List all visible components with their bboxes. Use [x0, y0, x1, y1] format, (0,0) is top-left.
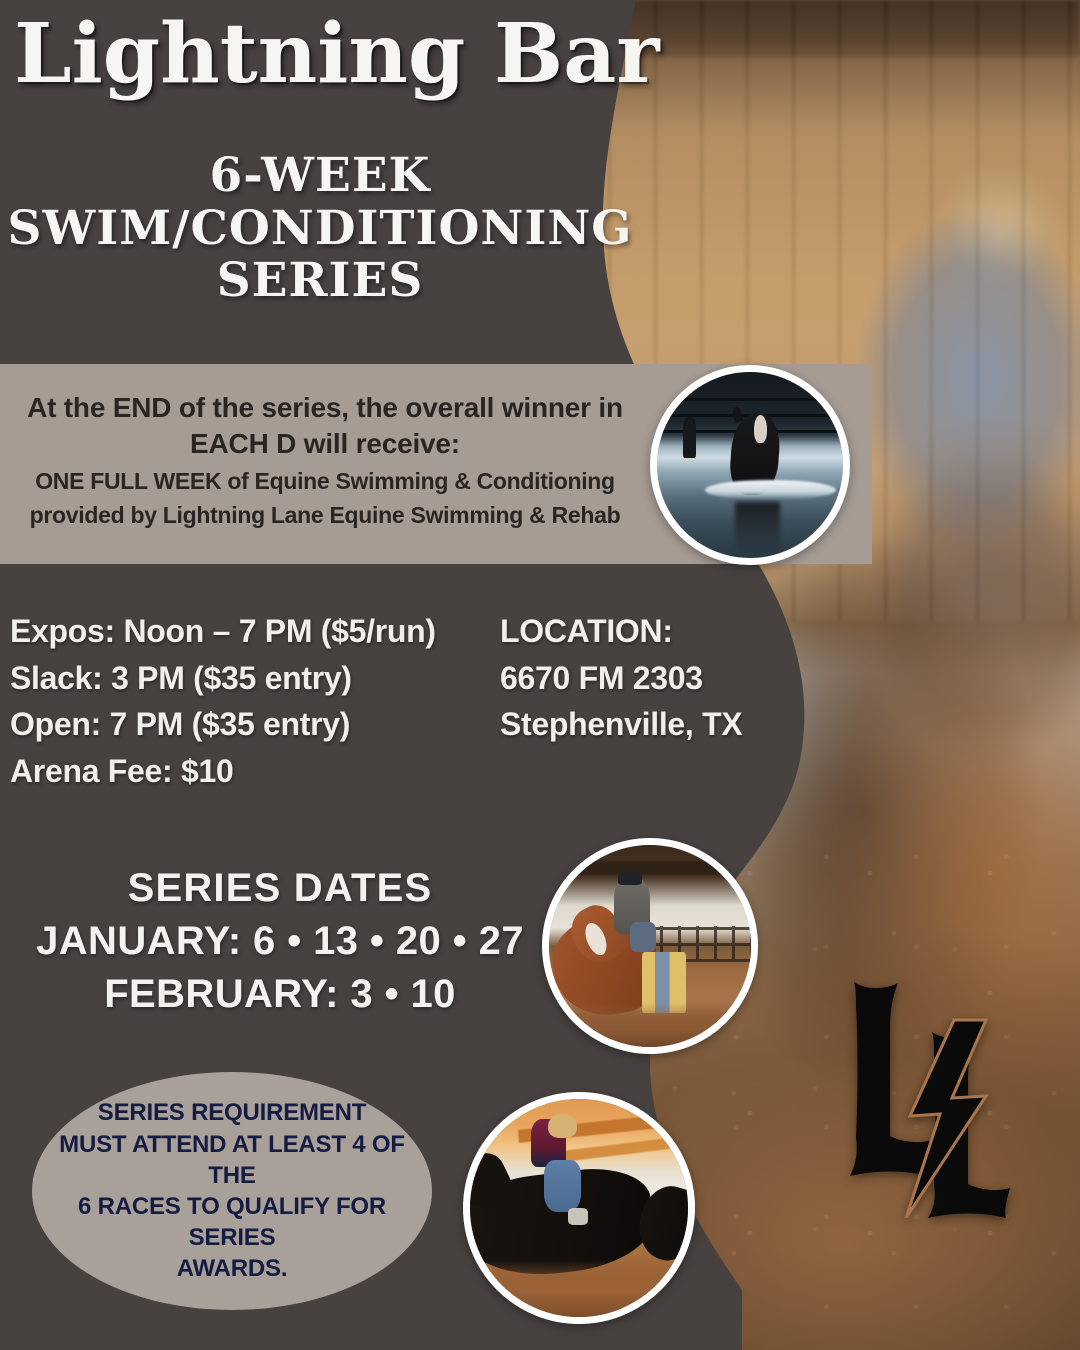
schedule-expos: Expos: Noon – 7 PM ($5/run) — [10, 608, 480, 655]
subtitle-line-3: SERIES — [0, 255, 640, 308]
black-horse-scene — [470, 1099, 688, 1317]
subtitle-line-2: SWIM/CONDITIONING — [0, 203, 640, 256]
prize-line-1: At the END of the series, the overall wi… — [0, 390, 650, 426]
location-address-line-2: Stephenville, TX — [500, 701, 830, 748]
swimming-pool-scene — [657, 372, 843, 558]
photo-swimming-horse — [650, 365, 850, 565]
series-dates-block: SERIES DATES JANUARY: 6 • 13 • 20 • 27 F… — [20, 862, 540, 1020]
pool-rail — [657, 398, 843, 401]
subtitle: 6-WEEK SWIM/CONDITIONING SERIES — [0, 150, 640, 308]
photo-barrel-racer — [542, 838, 758, 1054]
barrel-racing-scene — [549, 845, 751, 1047]
requirement-line-4: AWARDS. — [56, 1253, 408, 1284]
prize-line-4: provided by Lightning Lane Equine Swimmi… — [0, 500, 650, 531]
schedule-arena-fee: Arena Fee: $10 — [10, 748, 480, 795]
swimming-horse-ear — [732, 407, 744, 423]
flyer-poster: Lightning Bar 6-WEEK SWIM/CONDITIONING S… — [0, 0, 1080, 1350]
schedule-slack: Slack: 3 PM ($35 entry) — [10, 655, 480, 702]
series-dates-heading: SERIES DATES — [20, 862, 540, 915]
series-requirement-badge: SERIES REQUIREMENT MUST ATTEND AT LEAST … — [32, 1072, 432, 1310]
series-dates-february: FEBRUARY: 3 • 10 — [20, 968, 540, 1021]
prize-line-3: ONE FULL WEEK of Equine Swimming & Condi… — [0, 466, 650, 497]
prize-line-2: EACH D will receive: — [0, 426, 650, 462]
rider-jeans — [630, 922, 656, 952]
schedule-block: Expos: Noon – 7 PM ($5/run) Slack: 3 PM … — [10, 608, 480, 795]
subtitle-line-1: 6-WEEK — [0, 150, 640, 203]
rider-jeans-blue — [544, 1160, 581, 1212]
swimming-horse-blaze — [754, 415, 767, 443]
location-address-line-1: 6670 FM 2303 — [500, 655, 830, 702]
series-dates-january: JANUARY: 6 • 13 • 20 • 27 — [20, 915, 540, 968]
lightning-lane-logo — [836, 968, 1036, 1218]
requirement-line-2: MUST ATTEND AT LEAST 4 OF THE — [56, 1129, 408, 1191]
schedule-open: Open: 7 PM ($35 entry) — [10, 701, 480, 748]
pool-handler — [683, 417, 696, 458]
water-reflection — [735, 502, 780, 554]
arena-dirt — [549, 1003, 751, 1047]
rider-cap — [618, 871, 642, 885]
arena-roof-beam — [549, 861, 751, 875]
page-title: Lightning Bar — [14, 14, 714, 94]
rider-boot — [568, 1208, 588, 1225]
requirement-line-3: 6 RACES TO QUALIFY FOR SERIES — [56, 1191, 408, 1253]
photo-black-horse-racer — [463, 1092, 695, 1324]
arena-dirt-black-scene — [470, 1260, 688, 1317]
location-block: LOCATION: 6670 FM 2303 Stephenville, TX — [500, 608, 830, 748]
requirement-line-1: SERIES REQUIREMENT — [56, 1097, 408, 1128]
water-foam — [705, 480, 835, 500]
location-heading: LOCATION: — [500, 608, 830, 655]
rider-hair — [548, 1114, 576, 1138]
